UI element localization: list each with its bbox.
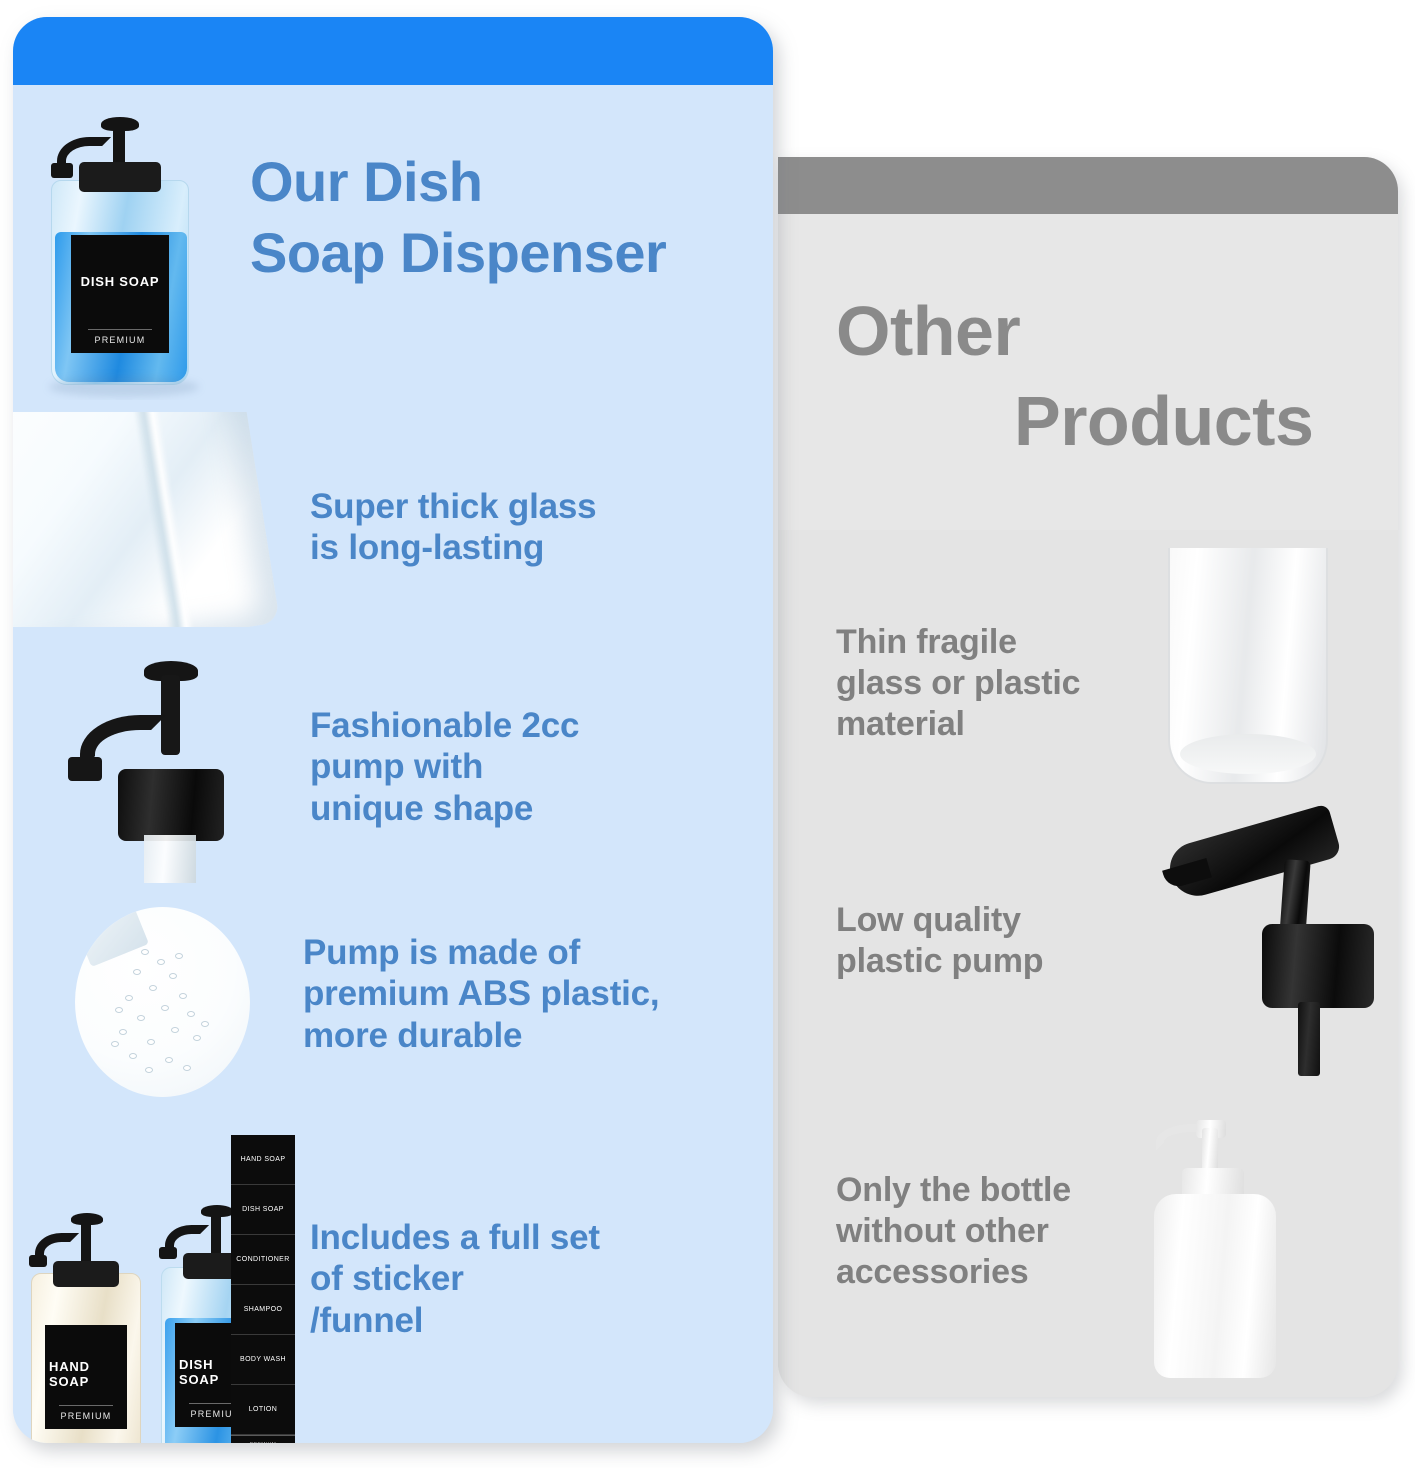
abs-pellet <box>137 1015 145 1021</box>
pump-knob <box>71 1213 103 1225</box>
thick-glass-closeup-image <box>13 412 301 627</box>
bottle-collar <box>79 162 161 192</box>
abs-pellet <box>145 1067 153 1073</box>
abs-pellet <box>157 959 165 965</box>
pump-spout-tip <box>159 1247 177 1259</box>
hand-soap-bottle-image: HAND SOAP PREMIUM <box>31 1203 141 1443</box>
pellet-chute <box>75 907 149 967</box>
our-title-line-2: Soap Dispenser <box>250 221 666 284</box>
sticker-label: SHAMPOO <box>231 1285 295 1335</box>
our-product-panel: Our DishSoap Dispenser DISH SOAP PREMIUM… <box>13 17 773 1443</box>
other-feature-row: Only the bottle without other accessorie… <box>778 1090 1398 1397</box>
our-feature-text: Pump is made of premium ABS plastic, mor… <box>303 932 753 1056</box>
abs-pellet <box>115 1007 123 1013</box>
abs-pellet <box>201 1021 209 1027</box>
other-panel-header-bar <box>778 157 1398 214</box>
thin-glass-jar-image <box>1168 548 1328 788</box>
our-feature-row: Fashionable 2cc pump with unique shape <box>13 647 773 885</box>
pump-knob <box>201 1205 233 1217</box>
sticker-sheet-image: HAND SOAP DISH SOAP CONDITIONER SHAMPOO … <box>231 1135 295 1443</box>
other-feature-text: Only the bottle without other accessorie… <box>836 1170 1186 1292</box>
abs-pellet <box>125 995 133 1001</box>
our-panel-title-row: Our DishSoap Dispenser DISH SOAP PREMIUM <box>13 85 773 370</box>
our-panel-header-bar <box>13 17 773 85</box>
white-plastic-bottle-image <box>1146 1110 1286 1378</box>
our-feature-text: Super thick glass is long-lasting <box>310 486 740 569</box>
abs-pellets-circle-image <box>75 907 250 1097</box>
abs-pellet <box>141 949 149 955</box>
our-title-line-1: Our Dish <box>250 150 482 213</box>
other-feature-text: Thin fragile glass or plastic material <box>836 622 1176 744</box>
abs-pellet <box>165 1057 173 1063</box>
pump-stem <box>81 1221 91 1265</box>
other-panel-title-row: Other Products <box>778 214 1398 530</box>
abs-pellet <box>129 1053 137 1059</box>
bottle-label: DISH SOAP PREMIUM <box>71 235 169 353</box>
our-feature-row: Super thick glass is long-lasting <box>13 400 773 632</box>
other-feature-text: Low quality plastic pump <box>836 900 1146 982</box>
abs-pellet <box>175 953 183 959</box>
hero-bottle-shadow <box>49 377 199 397</box>
pump-dip-tube <box>1298 1002 1320 1076</box>
abs-pellet <box>149 985 157 991</box>
our-feature-text: Fashionable 2cc pump with unique shape <box>310 705 730 829</box>
abs-pellet <box>133 969 141 975</box>
abs-pellet <box>179 993 187 999</box>
pump-dip-tube <box>144 835 196 883</box>
abs-pellet <box>187 1011 195 1017</box>
abs-pellet <box>169 973 177 979</box>
bottle-label: HAND SOAP PREMIUM <box>45 1325 127 1429</box>
pump-closeup-image <box>48 657 278 882</box>
pump-knob <box>101 117 139 131</box>
other-panel-title-line-2: Products <box>1014 386 1313 456</box>
sticker-label: CONDITIONER <box>231 1235 295 1285</box>
bottle-label-main: HAND SOAP <box>49 1359 123 1389</box>
abs-pellet <box>171 1027 179 1033</box>
bottle-label-sub: PREMIUM <box>88 329 153 345</box>
hero-dish-soap-bottle-image: DISH SOAP PREMIUM <box>51 115 189 385</box>
pump-stem <box>211 1213 221 1257</box>
other-feature-row: Thin fragile glass or plastic material <box>778 540 1398 805</box>
other-panel-title-line-1: Other <box>836 296 1020 366</box>
abs-pellet <box>111 1041 119 1047</box>
sticker-label: HAND SOAP <box>231 1135 295 1185</box>
sticker-label: LOTION <box>231 1385 295 1435</box>
our-feature-row: Pump is made of premium ABS plastic, mor… <box>13 899 773 1105</box>
our-panel-title: Our DishSoap Dispenser <box>250 147 770 288</box>
sticker-label: DISH SOAP <box>231 1185 295 1235</box>
bottle-label-sub: PREMIUM <box>59 1405 112 1421</box>
bottle-collar <box>53 1261 119 1287</box>
pump-spout-tip <box>68 757 102 781</box>
other-feature-row: Low quality plastic pump <box>778 812 1398 1078</box>
our-feature-row: HAND SOAP PREMIUM DISH SOAP PREMIUM HAND… <box>13 1117 773 1443</box>
abs-pellet <box>183 1065 191 1071</box>
pump-head <box>1164 804 1342 903</box>
pump-spout-tip <box>51 163 73 178</box>
sticker-label: BODY WASH <box>231 1335 295 1385</box>
pump-spout-tip <box>29 1255 47 1267</box>
abs-pellet <box>147 1039 155 1045</box>
bottle-body <box>1154 1194 1276 1378</box>
jar-floor <box>1180 734 1316 774</box>
other-products-panel: Other Products Thin fragile glass or pla… <box>778 157 1398 1397</box>
sticker-sheet-footer: PREMIUM <box>231 1435 295 1443</box>
bottle-label-main: DISH SOAP <box>81 274 160 289</box>
low-quality-pump-image <box>1150 820 1398 1078</box>
our-feature-text: Includes a full set of sticker /funnel <box>310 1217 750 1341</box>
abs-pellet <box>193 1035 201 1041</box>
pump-collar <box>1262 924 1374 1008</box>
abs-pellet <box>161 1005 169 1011</box>
abs-pellet <box>119 1029 127 1035</box>
pump-collar <box>118 769 224 841</box>
